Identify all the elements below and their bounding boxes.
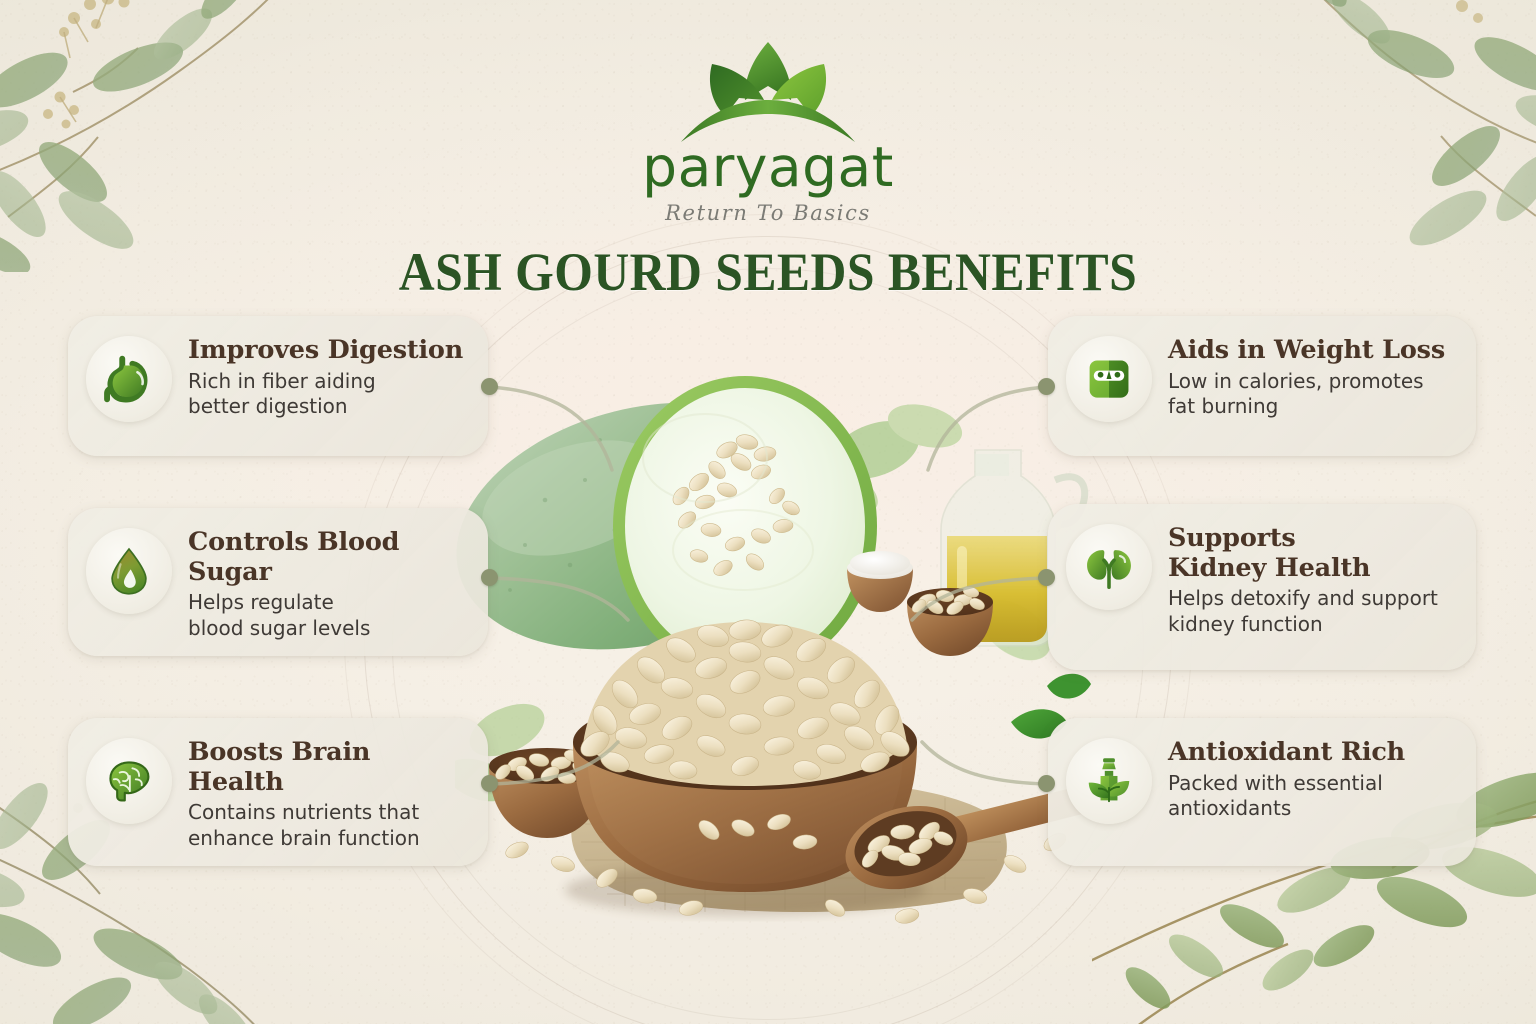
card-title: Antioxidant Rich <box>1168 738 1405 768</box>
weight-scale-icon <box>1066 336 1152 422</box>
connector-dot-blood-sugar <box>481 569 498 586</box>
benefit-card-controls-blood-sugar[interactable]: Controls Blood Sugar Helps regulate bloo… <box>68 508 488 656</box>
card-text: Supports Kidney Health Helps detoxify an… <box>1152 522 1438 637</box>
infographic-canvas: paryagat Return To Basics ASH GOURD SEED… <box>0 0 1536 1024</box>
benefit-card-supports-kidney-health[interactable]: Supports Kidney Health Helps detoxify an… <box>1048 504 1476 670</box>
benefit-card-improves-digestion[interactable]: Improves Digestion Rich in fiber aiding … <box>68 316 488 456</box>
connector-dot-antioxidant <box>1038 775 1055 792</box>
connector-dot-weight-loss <box>1038 378 1055 395</box>
card-text: Controls Blood Sugar Helps regulate bloo… <box>172 526 466 641</box>
ash-gourd-and-seeds-photo <box>455 330 1095 930</box>
card-description: Contains nutrients that enhance brain fu… <box>188 800 466 851</box>
card-text: Improves Digestion Rich in fiber aiding … <box>172 334 463 419</box>
page-title: ASH GOURD SEEDS BENEFITS <box>61 241 1474 303</box>
blood-drop-icon <box>86 528 172 614</box>
card-title: Controls Blood Sugar <box>188 528 466 587</box>
card-description: Low in calories, promotes fat burning <box>1168 369 1445 420</box>
header: paryagat Return To Basics ASH GOURD SEED… <box>0 0 1536 303</box>
card-title: Improves Digestion <box>188 336 463 366</box>
card-title: Boosts Brain Health <box>188 738 466 797</box>
card-description: Rich in fiber aiding better digestion <box>188 369 463 420</box>
connector-dot-digestion <box>481 378 498 395</box>
benefit-card-aids-in-weight-loss[interactable]: Aids in Weight Loss Low in calories, pro… <box>1048 316 1476 456</box>
card-text: Antioxidant Rich Packed with essential a… <box>1152 736 1405 821</box>
card-title: Supports Kidney Health <box>1168 524 1438 583</box>
stomach-icon <box>86 336 172 422</box>
card-text: Boosts Brain Health Contains nutrients t… <box>172 736 466 851</box>
bottle-with-leaves-icon <box>1066 738 1152 824</box>
brain-icon <box>86 738 172 824</box>
brand-name: paryagat <box>0 140 1536 195</box>
benefit-card-boosts-brain-health[interactable]: Boosts Brain Health Contains nutrients t… <box>68 718 488 866</box>
card-text: Aids in Weight Loss Low in calories, pro… <box>1152 334 1445 419</box>
card-title: Aids in Weight Loss <box>1168 336 1445 366</box>
kidneys-icon <box>1066 524 1152 610</box>
card-description: Helps detoxify and support kidney functi… <box>1168 586 1438 637</box>
connector-dot-brain <box>481 775 498 792</box>
connector-dot-kidney <box>1038 569 1055 586</box>
brand-tagline: Return To Basics <box>0 201 1536 225</box>
card-description: Packed with essential antioxidants <box>1168 771 1405 822</box>
card-description: Helps regulate blood sugar levels <box>188 590 466 641</box>
benefit-card-antioxidant-rich[interactable]: Antioxidant Rich Packed with essential a… <box>1048 718 1476 866</box>
